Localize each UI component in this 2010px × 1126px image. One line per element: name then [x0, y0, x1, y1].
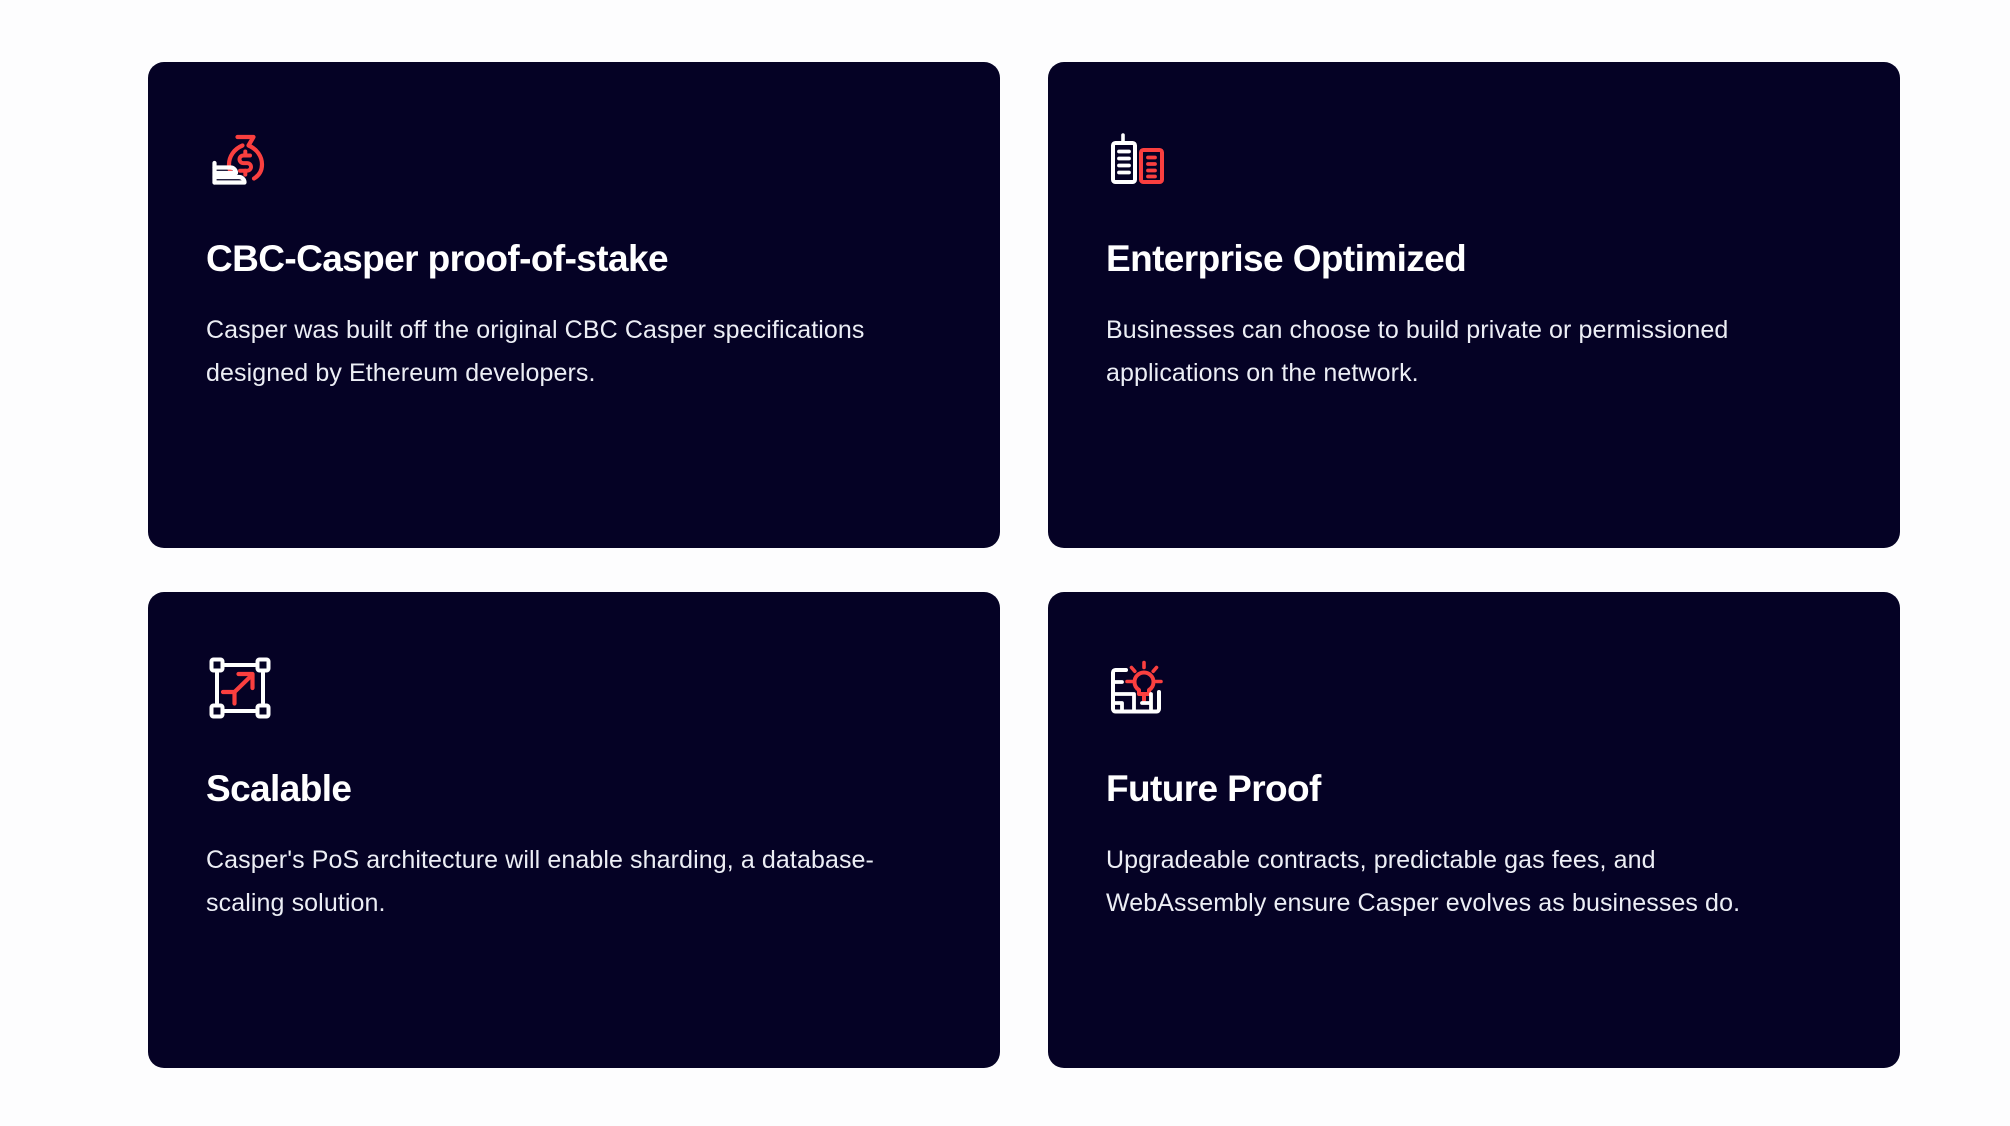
card-description: Businesses can choose to build private o…	[1106, 309, 1786, 397]
money-bag-icon	[206, 124, 274, 192]
lightbulb-blueprint-icon	[1106, 654, 1174, 722]
card-title: CBC-Casper proof-of-stake	[206, 238, 942, 281]
feature-card-grid: CBC-Casper proof-of-stake Casper was bui…	[148, 62, 1900, 1068]
feature-card-scalable[interactable]: Scalable Casper's PoS architecture will …	[148, 592, 1000, 1068]
feature-card-future-proof[interactable]: Future Proof Upgradeable contracts, pred…	[1048, 592, 1900, 1068]
office-buildings-icon	[1106, 124, 1174, 192]
feature-card-cbc-casper[interactable]: CBC-Casper proof-of-stake Casper was bui…	[148, 62, 1000, 548]
resize-expand-icon	[206, 654, 274, 722]
feature-card-enterprise-optimized[interactable]: Enterprise Optimized Businesses can choo…	[1048, 62, 1900, 548]
card-title: Enterprise Optimized	[1106, 238, 1842, 281]
card-title: Future Proof	[1106, 768, 1842, 811]
card-description: Casper's PoS architecture will enable sh…	[206, 839, 906, 927]
card-description: Casper was built off the original CBC Ca…	[206, 309, 906, 397]
card-title: Scalable	[206, 768, 942, 811]
feature-section: CBC-Casper proof-of-stake Casper was bui…	[0, 0, 2010, 1126]
card-description: Upgradeable contracts, predictable gas f…	[1106, 839, 1786, 927]
